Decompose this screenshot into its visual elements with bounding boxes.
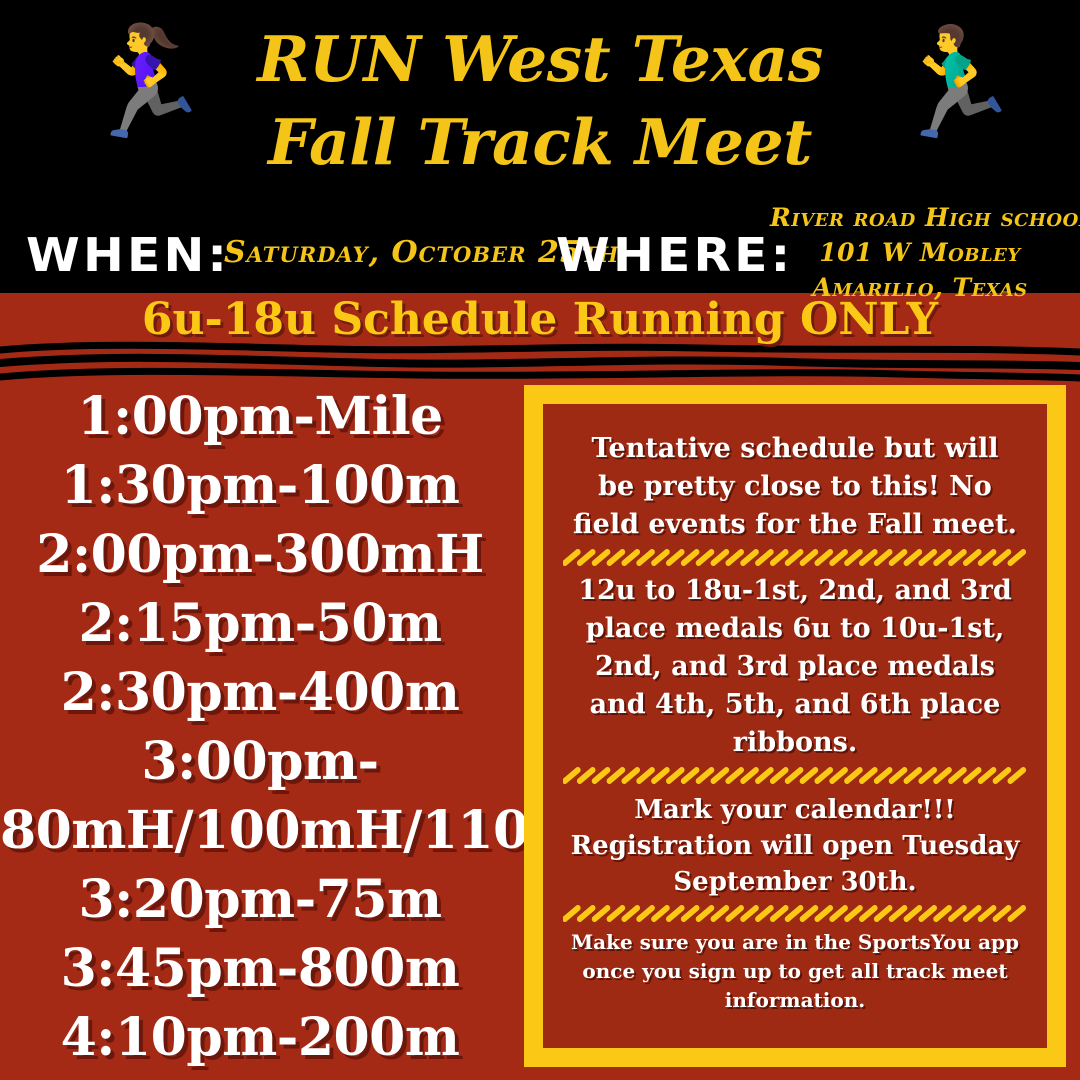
rope-divider-icon xyxy=(563,548,1027,566)
schedule-item: 4:10pm-200m xyxy=(0,1003,520,1072)
where-line-city: Amarillo, Texas xyxy=(770,270,1070,305)
info-note-app: Make sure you are in the SportsYou app o… xyxy=(563,922,1027,1017)
where-label: WHERE: xyxy=(556,232,793,278)
schedule-item: 1:00pm-Mile xyxy=(0,382,520,451)
schedule-item: 1:30pm-100m xyxy=(0,451,520,520)
info-note-tentative: Tentative schedule but will be pretty cl… xyxy=(563,420,1027,548)
when-label: WHEN: xyxy=(26,232,230,278)
schedule-item: 2:30pm-400m xyxy=(0,658,520,727)
info-note-awards: 12u to 18u-1st, 2nd, and 3rd place medal… xyxy=(563,566,1027,766)
rope-divider-icon xyxy=(563,766,1027,784)
schedule-list: 1:00pm-Mile 1:30pm-100m 2:00pm-300mH 2:1… xyxy=(0,382,520,1072)
woman-running-icon: 🏃‍♀️ xyxy=(78,28,212,136)
where-line-venue: River road High school xyxy=(770,200,1070,235)
schedule-item: 3:00pm-80mH/100mH/110mH xyxy=(0,727,520,865)
man-running-icon: 🏃‍♂️ xyxy=(888,28,1022,136)
where-value: River road High school 101 W Mobley Amar… xyxy=(770,200,1070,305)
schedule-item: 2:00pm-300mH xyxy=(0,520,520,589)
schedule-item: 3:20pm-75m xyxy=(0,865,520,934)
info-panel-inner: Tentative schedule but will be pretty cl… xyxy=(537,398,1053,1054)
when-where-row: WHEN: Saturday, October 25th WHERE: Rive… xyxy=(0,196,1080,292)
info-note-registration: Mark your calendar!!! Registration will … xyxy=(563,784,1027,904)
event-flyer: 🏃‍♀️ 🏃‍♂️ RUN West Texas Fall Track Meet… xyxy=(0,0,1080,1080)
rope-divider-icon xyxy=(563,904,1027,922)
info-panel: Tentative schedule but will be pretty cl… xyxy=(524,385,1066,1067)
where-line-street: 101 W Mobley xyxy=(770,235,1070,270)
schedule-item: 3:45pm-800m xyxy=(0,934,520,1003)
schedule-item: 2:15pm-50m xyxy=(0,589,520,658)
